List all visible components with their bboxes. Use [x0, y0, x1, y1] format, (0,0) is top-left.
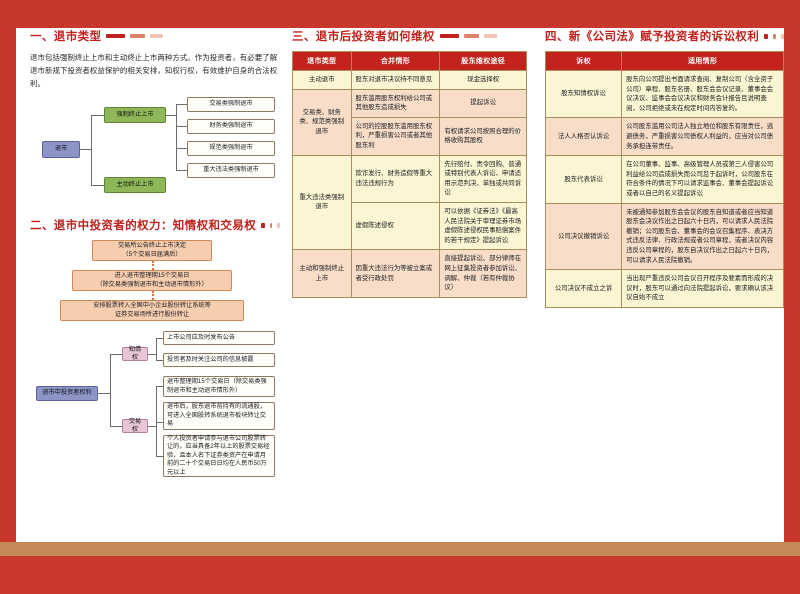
- cell-right-name: 股东知情权诉讼: [546, 71, 622, 118]
- page-frame-top: [0, 0, 800, 28]
- table-row: 主动退市股东对退市决议持不同意见现金选择权: [293, 71, 527, 90]
- connector: [166, 115, 176, 116]
- page-frame-left: [0, 0, 16, 594]
- node-forced-item: 重大违法类强制退市: [187, 163, 275, 178]
- dash-icon: [464, 34, 479, 38]
- connector: [176, 126, 187, 127]
- table-row: 股东代表诉讼在公司董事、监事、高级管理人员或第三人侵害公司利益给公司造成损失而公…: [546, 156, 784, 203]
- connector: [91, 185, 104, 186]
- remedy-table: 退市类型 合并情形 股东维权途径 主动退市股东对退市决议持不同意见现金选择权交易…: [292, 51, 527, 298]
- info-item: 上市公司应及时发布公告: [163, 331, 275, 345]
- node-forced-item: 财务类强制退市: [187, 119, 275, 134]
- section-1-heading: 一、退市类型: [30, 28, 280, 44]
- connector: [156, 456, 163, 457]
- section-4-title: 四、新《公司法》赋予投资者的诉讼权利: [545, 28, 759, 44]
- flow-step-3: 安排股票转入全国中小企业股份转让系统等 证券交易场所进行股份转让: [60, 300, 244, 321]
- column-header-case: 合并情形: [351, 52, 440, 71]
- node-retirement-root: 退市: [42, 141, 80, 158]
- table-row: 公司决议不成立之诉当出现严重违反公司会议召开程序及要素而形成的决议时，股东可以通…: [546, 270, 784, 308]
- cell-case: 股东对退市决议持不同意见: [351, 71, 440, 90]
- column-header-situation: 适用情形: [622, 52, 784, 71]
- cell-delisting-type: 交易类、财务类、规范类强制退市: [293, 89, 352, 155]
- dash-icon: [781, 34, 784, 39]
- dash-icon: [261, 223, 264, 228]
- table-row: 交易类、财务类、规范类强制退市股东滥用股东权利给公司或其他股东造成损失提起诉讼: [293, 89, 527, 117]
- investor-rights-diagram: 退市中投资者权利 知情权 交易权 上市公司应及时发布公告 投资者及时关注公司的信…: [30, 330, 280, 465]
- table-header-row: 诉权 适用情形: [546, 52, 784, 71]
- cell-delisting-type: 重大违法类强制退市: [293, 155, 352, 250]
- remedy-table-body: 主动退市股东对退市决议持不同意见现金选择权交易类、财务类、规范类强制退市股东滥用…: [293, 71, 527, 298]
- litigation-rights-table-body: 股东知情权诉讼股东向公司提出书面请求查阅、复制公司（含全资子公司）章程、股东名册…: [546, 71, 784, 308]
- node-voluntary-delisting: 主动终止上市: [104, 177, 166, 193]
- section-3-heading: 三、退市后投资者如何维权: [292, 28, 527, 44]
- connector: [176, 148, 187, 149]
- cell-situation: 未被通知参加股东会会议的股东自知道或者应当知道股东会决议作出之日起六十日内，可以…: [622, 203, 784, 270]
- connector: [156, 386, 163, 387]
- dash-icon: [150, 34, 163, 38]
- column-left: 一、退市类型 退市包括强制终止上市和主动终止上市两种方式。作为投资者，有必要了解…: [30, 28, 280, 465]
- cell-case: 虚假陈述侵权: [351, 202, 440, 249]
- cell-right-name: 公司决议撤销诉讼: [546, 203, 622, 270]
- connector-dotted: [152, 261, 154, 270]
- connector: [156, 386, 157, 456]
- cell-right-name: 公司决议不成立之诉: [546, 270, 622, 308]
- connector: [110, 354, 111, 426]
- table-row: 法人人格否认诉讼公司股东滥用公司法人独立地位和股东有限责任，逃避债务，严重损害公…: [546, 118, 784, 156]
- trade-item: 退市后，股东退市前持有的流通股，可进入全国股转系统退市板块转让交易: [163, 402, 275, 430]
- content-sheet: 一、退市类型 退市包括强制终止上市和主动终止上市两种方式。作为投资者，有必要了解…: [16, 28, 784, 508]
- table-row: 公司决议撤销诉讼未被通知参加股东会会议的股东自知道或者应当知道股东会决议作出之日…: [546, 203, 784, 270]
- section-1-intro: 退市包括强制终止上市和主动终止上市两种方式。作为投资者，有必要了解退市新规下投资…: [30, 51, 280, 90]
- cell-situation: 股东向公司提出书面请求查阅、复制公司（含全资子公司）章程、股东名册、股东会会议记…: [622, 71, 784, 118]
- cell-remedy: 提起诉讼: [440, 89, 527, 117]
- connector: [110, 426, 122, 427]
- connector-dotted: [152, 291, 154, 300]
- cell-right-name: 法人人格否认诉讼: [546, 118, 622, 156]
- table-header-row: 退市类型 合并情形 股东维权途径: [293, 52, 527, 71]
- trade-item: 退市整理期15个交易日（除交易类强制退市和主动退市情形外）: [163, 376, 275, 397]
- section-4-heading: 四、新《公司法》赋予投资者的诉讼权利: [545, 28, 784, 44]
- section-2-heading: 二、退市中投资者的权力：知情权和交易权: [30, 217, 280, 233]
- node-forced-item: 规范类强制退市: [187, 141, 275, 156]
- connector: [91, 115, 92, 185]
- node-forced-item: 交易类强制退市: [187, 97, 275, 112]
- dash-icon: [764, 34, 768, 39]
- flow-step-2: 进入退市整理期15个交易日 （除交易类强制退市和主动退市情形外）: [72, 270, 232, 291]
- cell-situation: 当出现严重违反公司会议召开程序及要素而形成的决议时，股东可以通过向法院提起诉讼，…: [622, 270, 784, 308]
- column-header-remedy: 股东维权途径: [440, 52, 527, 71]
- trade-item: 个人投资者申请参与退市公司股票转让的，应当具备2年以上的股票交易经验，且本人名下…: [163, 435, 275, 477]
- dash-icon: [440, 34, 459, 38]
- cell-delisting-type: 主动退市: [293, 71, 352, 90]
- column-header-type: 退市类型: [293, 52, 352, 71]
- column-right: 四、新《公司法》赋予投资者的诉讼权利 诉权 适用情形 股东知情权诉讼股东向公司提…: [545, 28, 784, 308]
- info-item: 投资者及时关注公司的信息披露: [163, 353, 275, 367]
- cell-case: 欺诈发行、财务造假等重大违法违规行为: [351, 155, 440, 202]
- table-row: 股东知情权诉讼股东向公司提出书面请求查阅、复制公司（含全资子公司）章程、股东名册…: [546, 71, 784, 118]
- cell-case: 因重大违法行为等被立案或者受行政处罚: [351, 250, 440, 297]
- flow-step-1: 交易所公告终止上市决定 （5个交易日届满后）: [92, 240, 212, 261]
- cell-remedy: 直接提起诉讼、部分律师在网上征集投资者参加诉讼、调解、仲裁（若有仲裁协议）: [440, 250, 527, 297]
- delisting-flow-diagram: 交易所公告终止上市决定 （5个交易日届满后） 进入退市整理期15个交易日 （除交…: [30, 240, 280, 318]
- dash-icon: [484, 34, 497, 38]
- section-1-title: 一、退市类型: [30, 28, 101, 44]
- connector: [176, 170, 187, 171]
- connector: [148, 354, 156, 355]
- cell-case: 公司的控股股东滥用股东权利，严重损害公司或者其他股东利: [351, 117, 440, 155]
- connector: [156, 360, 163, 361]
- cell-remedy: 现金选择权: [440, 71, 527, 90]
- connector: [91, 115, 104, 116]
- page-frame-bottom: [0, 556, 800, 594]
- connector: [148, 426, 156, 427]
- page-frame-right: [784, 0, 800, 594]
- connector: [176, 104, 177, 170]
- node-right-to-trade: 交易权: [122, 419, 148, 433]
- retirement-type-diagram: 退市 强制终止上市 主动终止上市 交易类强制退市 财务类强制退市 规范类强制退市…: [30, 99, 280, 209]
- section-3-title: 三、退市后投资者如何维权: [292, 28, 435, 44]
- cell-remedy: 有权请求公司按照合理的价格收购其股权: [440, 117, 527, 155]
- section-2-title: 二、退市中投资者的权力：知情权和交易权: [30, 217, 256, 233]
- dash-icon: [106, 34, 125, 38]
- table-row: 主动和强制终止上市因重大违法行为等被立案或者受行政处罚直接提起诉讼、部分律师在网…: [293, 250, 527, 297]
- dash-icon: [130, 34, 145, 38]
- cell-right-name: 股东代表诉讼: [546, 156, 622, 203]
- litigation-rights-table: 诉权 适用情形 股东知情权诉讼股东向公司提出书面请求查阅、复制公司（含全资子公司…: [545, 51, 784, 308]
- page-frame-tan-bar: [0, 542, 800, 556]
- cell-situation: 在公司董事、监事、高级管理人员或第三人侵害公司利益给公司造成损失而公司怠于起诉时…: [622, 156, 784, 203]
- column-middle: 三、退市后投资者如何维权 退市类型 合并情形 股东维权途径 主动退市股东对退市决…: [292, 28, 527, 298]
- cell-delisting-type: 主动和强制终止上市: [293, 250, 352, 297]
- connector: [156, 338, 163, 339]
- node-investor-rights-root: 退市中投资者权利: [36, 386, 98, 401]
- cell-remedy: 可以依据《证券法》《最高人民法院关于审理证券市场虚假陈述侵权民事赔偿案件的若干规…: [440, 202, 527, 249]
- cell-case: 股东滥用股东权利给公司或其他股东造成损失: [351, 89, 440, 117]
- dash-icon: [773, 34, 776, 39]
- connector: [176, 104, 187, 105]
- connector: [156, 338, 157, 360]
- table-row: 重大违法类强制退市欺诈发行、财务造假等重大违法违规行为先行赔付、责令回购、普通或…: [293, 155, 527, 202]
- node-right-to-information: 知情权: [122, 347, 148, 361]
- connector: [156, 422, 163, 423]
- node-forced-delisting: 强制终止上市: [104, 107, 166, 123]
- cell-situation: 公司股东滥用公司法人独立地位和股东有限责任，逃避债务，严重损害公司债权人利益的，…: [622, 118, 784, 156]
- connector: [80, 149, 91, 150]
- connector: [98, 393, 110, 394]
- dash-icon: [277, 223, 280, 228]
- column-header-right: 诉权: [546, 52, 622, 71]
- cell-remedy: 先行赔付、责令回购、普通或特别代表人诉讼、申请适用示范判决、单独或共同诉讼: [440, 155, 527, 202]
- dash-icon: [270, 223, 273, 228]
- connector: [110, 354, 122, 355]
